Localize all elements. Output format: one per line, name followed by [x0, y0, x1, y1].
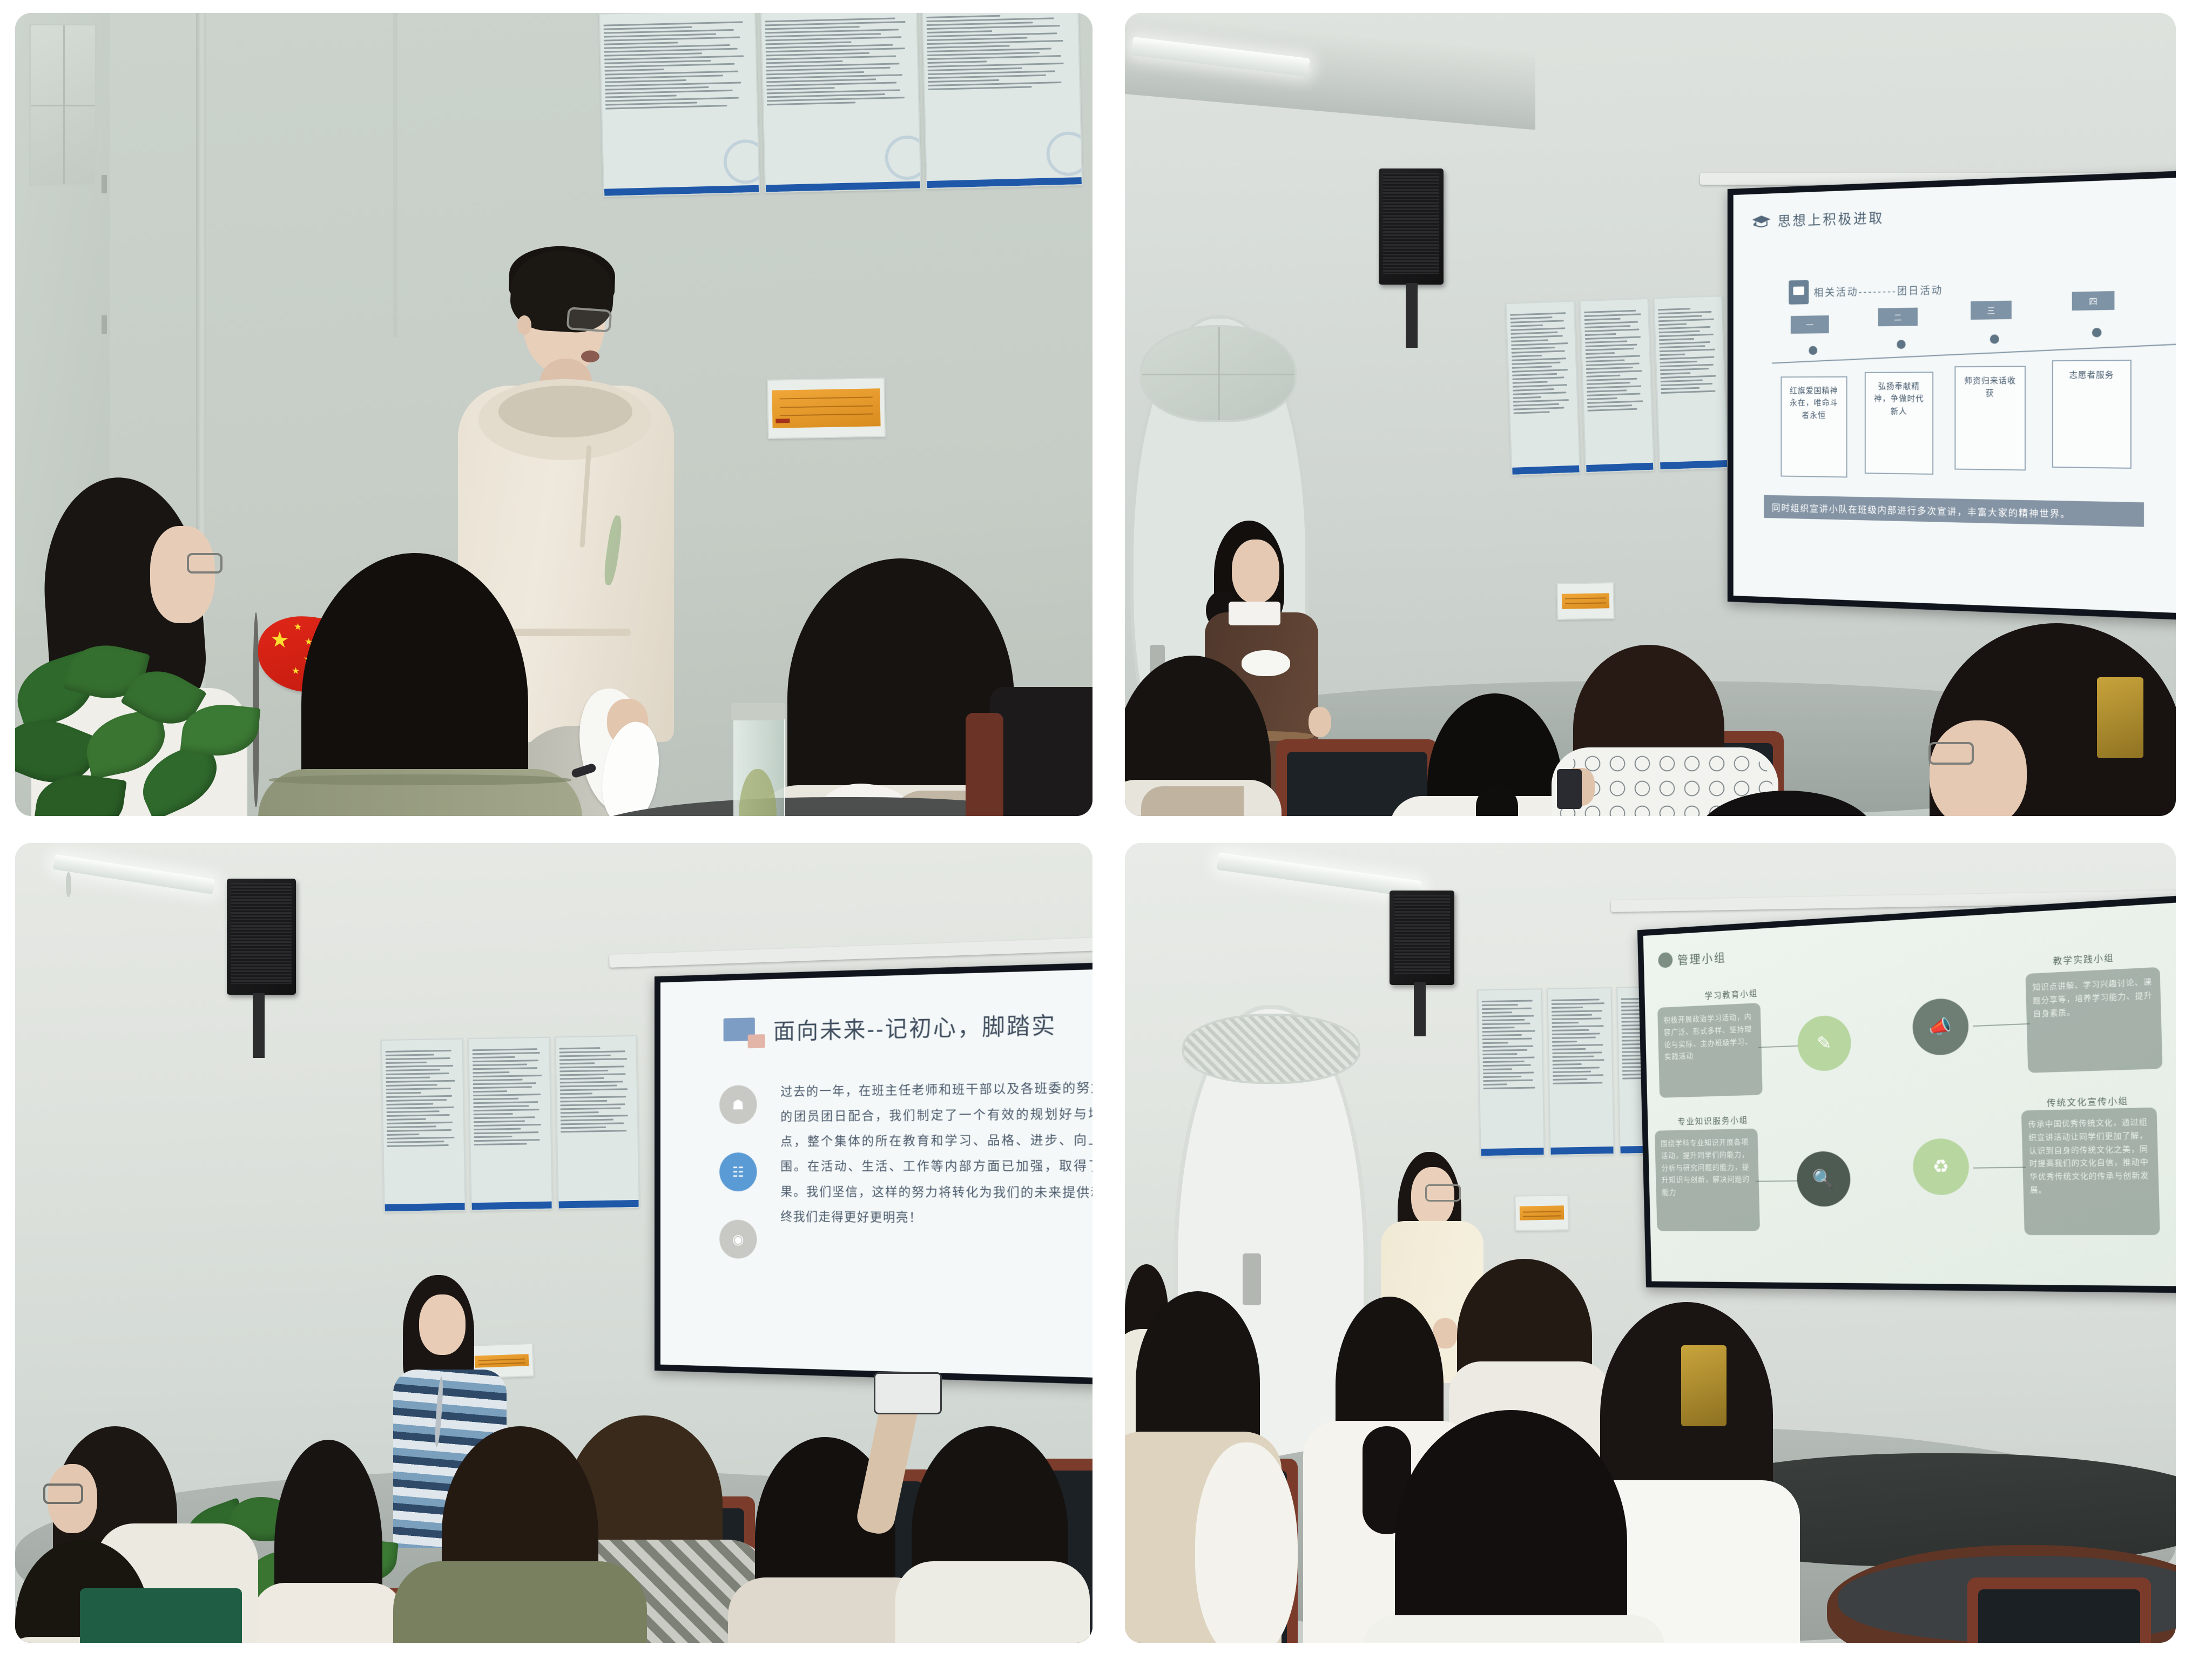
timeline-card-3: 师资归来话收获 — [1954, 366, 2026, 470]
audience-blouse — [1195, 1442, 1298, 1643]
hoodie-hood-inner — [498, 386, 632, 437]
megaphone-icon: 📣 — [1912, 997, 1969, 1056]
potted-plant — [15, 639, 285, 816]
chair-cushion — [1978, 1589, 2140, 1643]
fire-safety-plaque — [1556, 582, 1614, 620]
slide-canvas: 管理小组 学习教育小组 教学实践小组 专业知识服务小组 传统文化宣传小组 积极开… — [1643, 900, 2176, 1286]
slide-section: 相关活动--------团日活动 — [1789, 277, 1943, 305]
speaker-mount-arm — [1406, 283, 1418, 348]
wall-poster — [555, 1035, 640, 1210]
slide-title: 管理小组 — [1677, 948, 1727, 968]
chair-frame — [966, 713, 1003, 816]
quadrant-label-1: 学习教育小组 — [1704, 986, 1758, 1001]
door-hinge — [102, 315, 107, 334]
quadrant-label-2: 教学实践小组 — [2053, 950, 2114, 967]
wall-poster — [1547, 987, 1614, 1156]
photo-bottom-left[interactable]: 面向未来--记初心，脚踏实 ☗ ☷ ◉ 过去的一年，在班主任老师和班干部以及各班… — [15, 843, 1092, 1643]
document-icon — [1789, 280, 1809, 305]
quadrant-label-3: 专业知识服务小组 — [1677, 1113, 1748, 1127]
projector-screen: 管理小组 学习教育小组 教学实践小组 专业知识服务小组 传统文化宣传小组 积极开… — [1637, 893, 2176, 1294]
timeline-chip-2: 二 — [1878, 308, 1918, 327]
slide-footer-banner: 同时组织宣讲小队在班级内部进行多次宣讲，丰富大家的精神世界。 — [1764, 495, 2144, 527]
wall-poster — [599, 13, 760, 197]
decorative-swirl — [723, 139, 760, 184]
sweater-trim — [269, 774, 571, 785]
quadrant-text-3: 围绕学科专业知识开展各项活动，提升同学们的能力，分析与研究问题的能力，提升知识与… — [1655, 1129, 1760, 1231]
audience-olive-jacket — [393, 1561, 647, 1643]
timeline-node — [2092, 328, 2102, 338]
eyeglasses-icon — [187, 553, 222, 574]
slide-section-label: 相关活动--------团日活动 — [1814, 282, 1944, 299]
slide-title: 面向未来--记初心，脚踏实 — [773, 1007, 1056, 1047]
connector-line — [1973, 1166, 2026, 1168]
audience-body — [253, 1583, 404, 1643]
chair-back — [990, 687, 1092, 816]
timeline-card-2: 弘扬奉献精神，争做时代新人 — [1865, 372, 1933, 475]
photo-bottom-right[interactable]: 管理小组 学习教育小组 教学实践小组 专业知识服务小组 传统文化宣传小组 积极开… — [1125, 843, 2176, 1643]
photo-top-left[interactable]: ★ ★ ★ ★ ★ — [15, 13, 1092, 816]
slide-title: 思想上积极进取 — [1778, 207, 1884, 231]
wall-poster — [1579, 298, 1654, 473]
graduation-cap-icon — [1750, 213, 1773, 229]
tote-bag — [80, 1588, 242, 1643]
book-icon: ☷ — [719, 1152, 757, 1191]
door-handle[interactable] — [1243, 1253, 1261, 1305]
quadrant-label-4: 传统文化宣传小组 — [2047, 1094, 2129, 1109]
screen-hook — [66, 872, 71, 897]
eyeglasses-icon — [43, 1483, 83, 1504]
smartphone[interactable] — [874, 1372, 942, 1414]
hair-clip — [1681, 1345, 1727, 1426]
presenter-face — [1232, 539, 1279, 603]
ceiling-speaker — [1379, 168, 1444, 285]
timeline-chip-1: 一 — [1791, 315, 1829, 334]
hoodie-pocket — [501, 629, 631, 636]
fire-safety-plaque — [767, 377, 886, 439]
hair-clip — [2097, 677, 2143, 758]
ceiling-speaker — [1390, 891, 1454, 985]
photo-collage: ★ ★ ★ ★ ★ — [0, 0, 2212, 1659]
lightbulb-icon: ☗ — [719, 1085, 757, 1124]
slide-body-text: 过去的一年，在班主任老师和班干部以及各班委的努力下，所有的团员团日配合，我们制定… — [780, 1074, 1092, 1232]
plaque-red-mark — [775, 419, 790, 423]
quadrant-text-4: 传承中国优秀传统文化，通过组织宣讲活动让同学们更加了解，认识到自身的传统文化之美… — [2021, 1107, 2160, 1235]
ceiling-speaker — [227, 879, 296, 995]
timeline-node — [1990, 334, 1999, 343]
wall-poster-group — [599, 13, 1083, 197]
slide-header: 思想上积极进取 — [1750, 207, 1885, 231]
wall-poster — [381, 1038, 466, 1213]
eyeglasses-icon — [1928, 742, 1974, 765]
photo-top-right[interactable]: 思想上积极进取 相关活动--------团日活动 一 二 三 四 红旗爱国精神永… — [1125, 13, 2176, 816]
wall-poster — [922, 13, 1083, 189]
speaker-mouth — [581, 350, 599, 362]
timeline-chip-3: 三 — [1971, 301, 2012, 320]
recycle-icon: ♻ — [1912, 1138, 1970, 1195]
connector-line — [1758, 1045, 1802, 1048]
presenter-collar — [1229, 602, 1280, 625]
audience-face — [1930, 720, 2027, 816]
wall-poster — [1653, 295, 1728, 470]
smartphone[interactable] — [1557, 769, 1582, 809]
door-glass — [29, 24, 97, 186]
speaker-grille — [231, 883, 292, 984]
timeline-node — [1897, 340, 1905, 349]
wall-poster-group — [381, 1035, 640, 1212]
speaker-grille — [1383, 173, 1439, 274]
timeline-card-1: 红旗爱国精神永在，唯命斗者永恒 — [1781, 376, 1847, 478]
speaker-mount-arm — [253, 993, 265, 1058]
timeline-chip-4: 四 — [2072, 291, 2115, 311]
speaker-mount-arm — [1414, 982, 1426, 1036]
fire-safety-plaque — [1514, 1195, 1569, 1231]
quadrant-text-2: 知识点讲解、学习兴趣讨论、课题分享等，培养学习能力、提升自身素质。 — [2025, 967, 2162, 1073]
connector-line — [1973, 1023, 2030, 1027]
bottle-lid — [731, 703, 785, 720]
decorative-swirl — [885, 135, 921, 180]
audience-vest — [1141, 786, 1244, 816]
note-pencil-icon: ✎ — [1797, 1015, 1851, 1072]
projector-screen: 面向未来--记初心，脚踏实 ☗ ☷ ◉ 过去的一年，在班主任老师和班干部以及各班… — [655, 960, 1092, 1388]
door-glass — [1140, 325, 1297, 422]
target-icon: ◉ — [719, 1219, 757, 1259]
wall-poster — [1506, 301, 1581, 476]
eyeglasses-icon — [1425, 1184, 1461, 1202]
slide-canvas: 面向未来--记初心，脚踏实 ☗ ☷ ◉ 过去的一年，在班主任老师和班干部以及各班… — [660, 966, 1092, 1380]
connector-line — [1756, 1181, 1802, 1182]
wall-poster — [1477, 988, 1545, 1157]
wall-poster — [760, 13, 921, 193]
presenter-face — [419, 1294, 466, 1355]
slide-header: 管理小组 — [1658, 948, 1727, 969]
speaker-ear — [517, 315, 531, 335]
slide-title-mark — [724, 1017, 755, 1041]
eyeglasses-icon — [567, 307, 612, 333]
wall-poster-group — [1506, 295, 1729, 476]
speaker-grille — [1394, 895, 1450, 974]
door-hinge — [102, 175, 107, 193]
audience-face — [150, 526, 215, 623]
decorative-swirl — [1046, 131, 1083, 177]
magnifier-icon: 🔍 — [1796, 1151, 1851, 1206]
timeline-card-4: 志愿者服务 — [2052, 360, 2132, 469]
slide-canvas: 思想上积极进取 相关活动--------团日活动 一 二 三 四 红旗爱国精神永… — [1734, 176, 2176, 615]
transom-grille — [1182, 1014, 1360, 1084]
quadrant-text-1: 积极开展政治学习活动，内容广泛、形式多样、坚持理论与实际、主办班级学习、实践活动 — [1657, 1003, 1763, 1098]
circle-badge-icon — [1658, 952, 1673, 968]
audience-body — [895, 1561, 1090, 1643]
presenter-hand — [1309, 707, 1331, 737]
audience-body-foreground — [1363, 1615, 1665, 1643]
wall-poster — [468, 1037, 553, 1211]
projector-screen: 思想上积极进取 相关活动--------团日活动 一 二 三 四 红旗爱国精神永… — [1728, 168, 2176, 622]
timeline-node — [1809, 346, 1817, 355]
presenter-name-card — [1242, 650, 1290, 676]
wall-seam — [393, 13, 397, 337]
